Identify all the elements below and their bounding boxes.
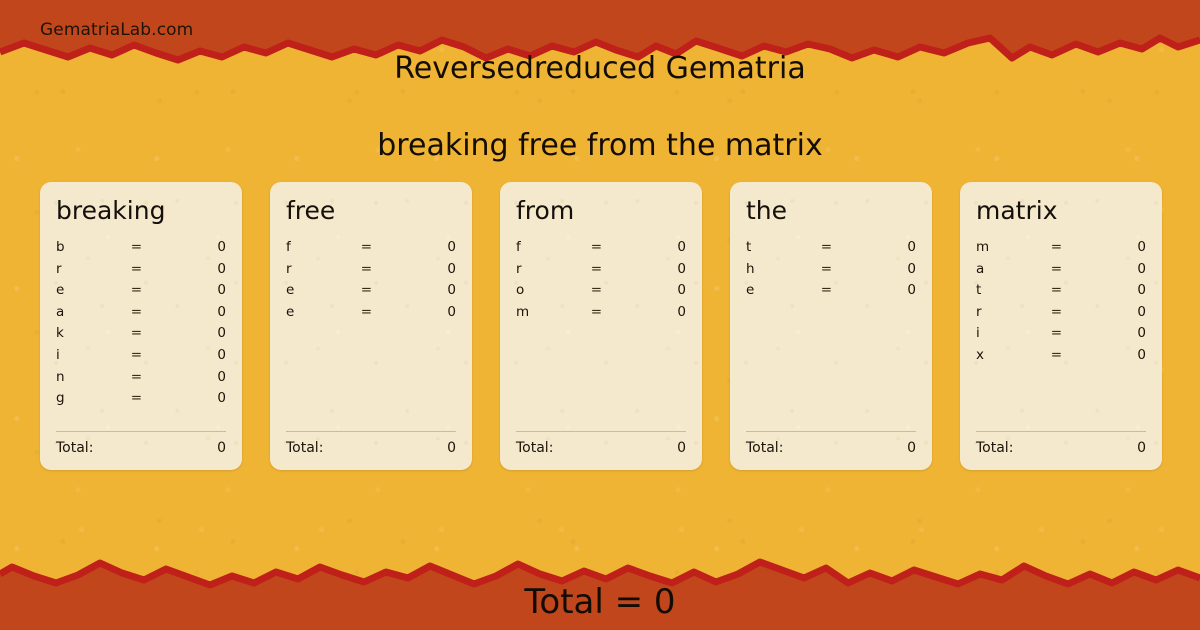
- card-total-label: Total:: [286, 440, 447, 456]
- card-total-label: Total:: [516, 440, 677, 456]
- equals-sign: =: [131, 325, 165, 341]
- word-cards: breaking b = 0 r = 0 e = 0 a: [40, 182, 1162, 470]
- letter-rows: t = 0 h = 0 e = 0: [746, 239, 916, 431]
- letter-row: e = 0: [746, 282, 916, 304]
- letter-value: 0: [625, 304, 686, 320]
- letter-row: f = 0: [516, 239, 686, 261]
- letter: e: [286, 282, 361, 298]
- equals-sign: =: [1051, 239, 1085, 255]
- equals-sign: =: [131, 369, 165, 385]
- equals-sign: =: [821, 282, 855, 298]
- letter: e: [56, 282, 131, 298]
- letter: f: [516, 239, 591, 255]
- equals-sign: =: [131, 261, 165, 277]
- card-divider: [56, 431, 226, 432]
- equals-sign: =: [591, 261, 625, 277]
- letter-rows: b = 0 r = 0 e = 0 a = 0: [56, 239, 226, 431]
- letter: r: [976, 304, 1051, 320]
- letter-row: x = 0: [976, 347, 1146, 369]
- equals-sign: =: [361, 282, 395, 298]
- letter-value: 0: [395, 261, 456, 277]
- word-card: the t = 0 h = 0 e = 0: [730, 182, 932, 470]
- card-total: Total: 0: [516, 440, 686, 456]
- letter-value: 0: [165, 325, 226, 341]
- letter: h: [746, 261, 821, 277]
- letter: i: [976, 325, 1051, 341]
- word-card: breaking b = 0 r = 0 e = 0 a: [40, 182, 242, 470]
- letter-value: 0: [855, 239, 916, 255]
- equals-sign: =: [591, 304, 625, 320]
- letter-row: i = 0: [976, 325, 1146, 347]
- site-brand[interactable]: GematriaLab.com: [40, 20, 193, 40]
- letter: a: [976, 261, 1051, 277]
- letter-row: h = 0: [746, 261, 916, 283]
- letter: k: [56, 325, 131, 341]
- letter-rows: f = 0 r = 0 e = 0 e = 0: [286, 239, 456, 431]
- letter: b: [56, 239, 131, 255]
- letter-value: 0: [395, 304, 456, 320]
- equals-sign: =: [1051, 261, 1085, 277]
- equals-sign: =: [1051, 304, 1085, 320]
- letter-row: a = 0: [976, 261, 1146, 283]
- equals-sign: =: [591, 239, 625, 255]
- letter-rows: f = 0 r = 0 o = 0 m = 0: [516, 239, 686, 431]
- card-total: Total: 0: [746, 440, 916, 456]
- card-word: matrix: [976, 198, 1146, 223]
- letter: n: [56, 369, 131, 385]
- gematria-poster: GematriaLab.com Reversedreduced Gematria…: [0, 0, 1200, 630]
- letter-value: 0: [395, 282, 456, 298]
- letter: m: [516, 304, 591, 320]
- card-divider: [976, 431, 1146, 432]
- card-total-value: 0: [447, 440, 456, 456]
- letter: g: [56, 390, 131, 406]
- card-total-value: 0: [677, 440, 686, 456]
- letter-value: 0: [165, 239, 226, 255]
- letter-row: r = 0: [286, 261, 456, 283]
- equals-sign: =: [361, 261, 395, 277]
- phrase-title: breaking free from the matrix: [0, 129, 1200, 162]
- card-total: Total: 0: [56, 440, 226, 456]
- equals-sign: =: [131, 239, 165, 255]
- word-card: from f = 0 r = 0 o = 0 m: [500, 182, 702, 470]
- letter-value: 0: [1085, 347, 1146, 363]
- card-divider: [746, 431, 916, 432]
- letter-row: f = 0: [286, 239, 456, 261]
- grand-total: Total = 0: [0, 582, 1200, 622]
- letter-row: n = 0: [56, 369, 226, 391]
- letter-value: 0: [165, 304, 226, 320]
- letter-row: i = 0: [56, 347, 226, 369]
- letter: e: [746, 282, 821, 298]
- letter: x: [976, 347, 1051, 363]
- card-total-value: 0: [1137, 440, 1146, 456]
- letter: o: [516, 282, 591, 298]
- letter: t: [746, 239, 821, 255]
- letter-value: 0: [1085, 304, 1146, 320]
- equals-sign: =: [1051, 347, 1085, 363]
- card-word: from: [516, 198, 686, 223]
- letter: r: [286, 261, 361, 277]
- letter-row: o = 0: [516, 282, 686, 304]
- cipher-title: Reversedreduced Gematria: [0, 52, 1200, 85]
- letter-value: 0: [625, 239, 686, 255]
- letter-value: 0: [1085, 282, 1146, 298]
- letter-value: 0: [625, 261, 686, 277]
- letter-row: e = 0: [286, 304, 456, 326]
- word-card: free f = 0 r = 0 e = 0 e: [270, 182, 472, 470]
- letter: i: [56, 347, 131, 363]
- letter-row: t = 0: [976, 282, 1146, 304]
- headings: Reversedreduced Gematria breaking free f…: [0, 52, 1200, 162]
- letter-row: a = 0: [56, 304, 226, 326]
- letter-value: 0: [1085, 261, 1146, 277]
- letter-row: r = 0: [56, 261, 226, 283]
- equals-sign: =: [1051, 325, 1085, 341]
- letter: m: [976, 239, 1051, 255]
- letter: f: [286, 239, 361, 255]
- letter-row: r = 0: [516, 261, 686, 283]
- card-total-value: 0: [907, 440, 916, 456]
- equals-sign: =: [131, 347, 165, 363]
- letter-row: e = 0: [286, 282, 456, 304]
- equals-sign: =: [821, 261, 855, 277]
- letter-row: t = 0: [746, 239, 916, 261]
- equals-sign: =: [131, 304, 165, 320]
- letter: a: [56, 304, 131, 320]
- letter-value: 0: [625, 282, 686, 298]
- equals-sign: =: [131, 390, 165, 406]
- card-word: free: [286, 198, 456, 223]
- card-total: Total: 0: [976, 440, 1146, 456]
- letter: e: [286, 304, 361, 320]
- letter-value: 0: [1085, 239, 1146, 255]
- letter: r: [516, 261, 591, 277]
- letter-value: 0: [165, 369, 226, 385]
- letter-value: 0: [1085, 325, 1146, 341]
- letter-value: 0: [855, 282, 916, 298]
- equals-sign: =: [131, 282, 165, 298]
- letter-value: 0: [165, 261, 226, 277]
- equals-sign: =: [591, 282, 625, 298]
- letter: r: [56, 261, 131, 277]
- card-divider: [286, 431, 456, 432]
- letter: t: [976, 282, 1051, 298]
- equals-sign: =: [361, 304, 395, 320]
- card-total-label: Total:: [976, 440, 1137, 456]
- word-card: matrix m = 0 a = 0 t = 0 r: [960, 182, 1162, 470]
- card-total-value: 0: [217, 440, 226, 456]
- card-total-label: Total:: [56, 440, 217, 456]
- equals-sign: =: [1051, 282, 1085, 298]
- equals-sign: =: [821, 239, 855, 255]
- letter-row: r = 0: [976, 304, 1146, 326]
- letter-row: m = 0: [516, 304, 686, 326]
- letter-value: 0: [165, 390, 226, 406]
- letter-rows: m = 0 a = 0 t = 0 r = 0: [976, 239, 1146, 431]
- card-divider: [516, 431, 686, 432]
- letter-row: m = 0: [976, 239, 1146, 261]
- equals-sign: =: [361, 239, 395, 255]
- letter-value: 0: [165, 347, 226, 363]
- letter-value: 0: [165, 282, 226, 298]
- letter-value: 0: [855, 261, 916, 277]
- letter-row: b = 0: [56, 239, 226, 261]
- card-total: Total: 0: [286, 440, 456, 456]
- letter-row: e = 0: [56, 282, 226, 304]
- letter-row: g = 0: [56, 390, 226, 412]
- card-total-label: Total:: [746, 440, 907, 456]
- letter-value: 0: [395, 239, 456, 255]
- letter-row: k = 0: [56, 325, 226, 347]
- card-word: breaking: [56, 198, 226, 223]
- card-word: the: [746, 198, 916, 223]
